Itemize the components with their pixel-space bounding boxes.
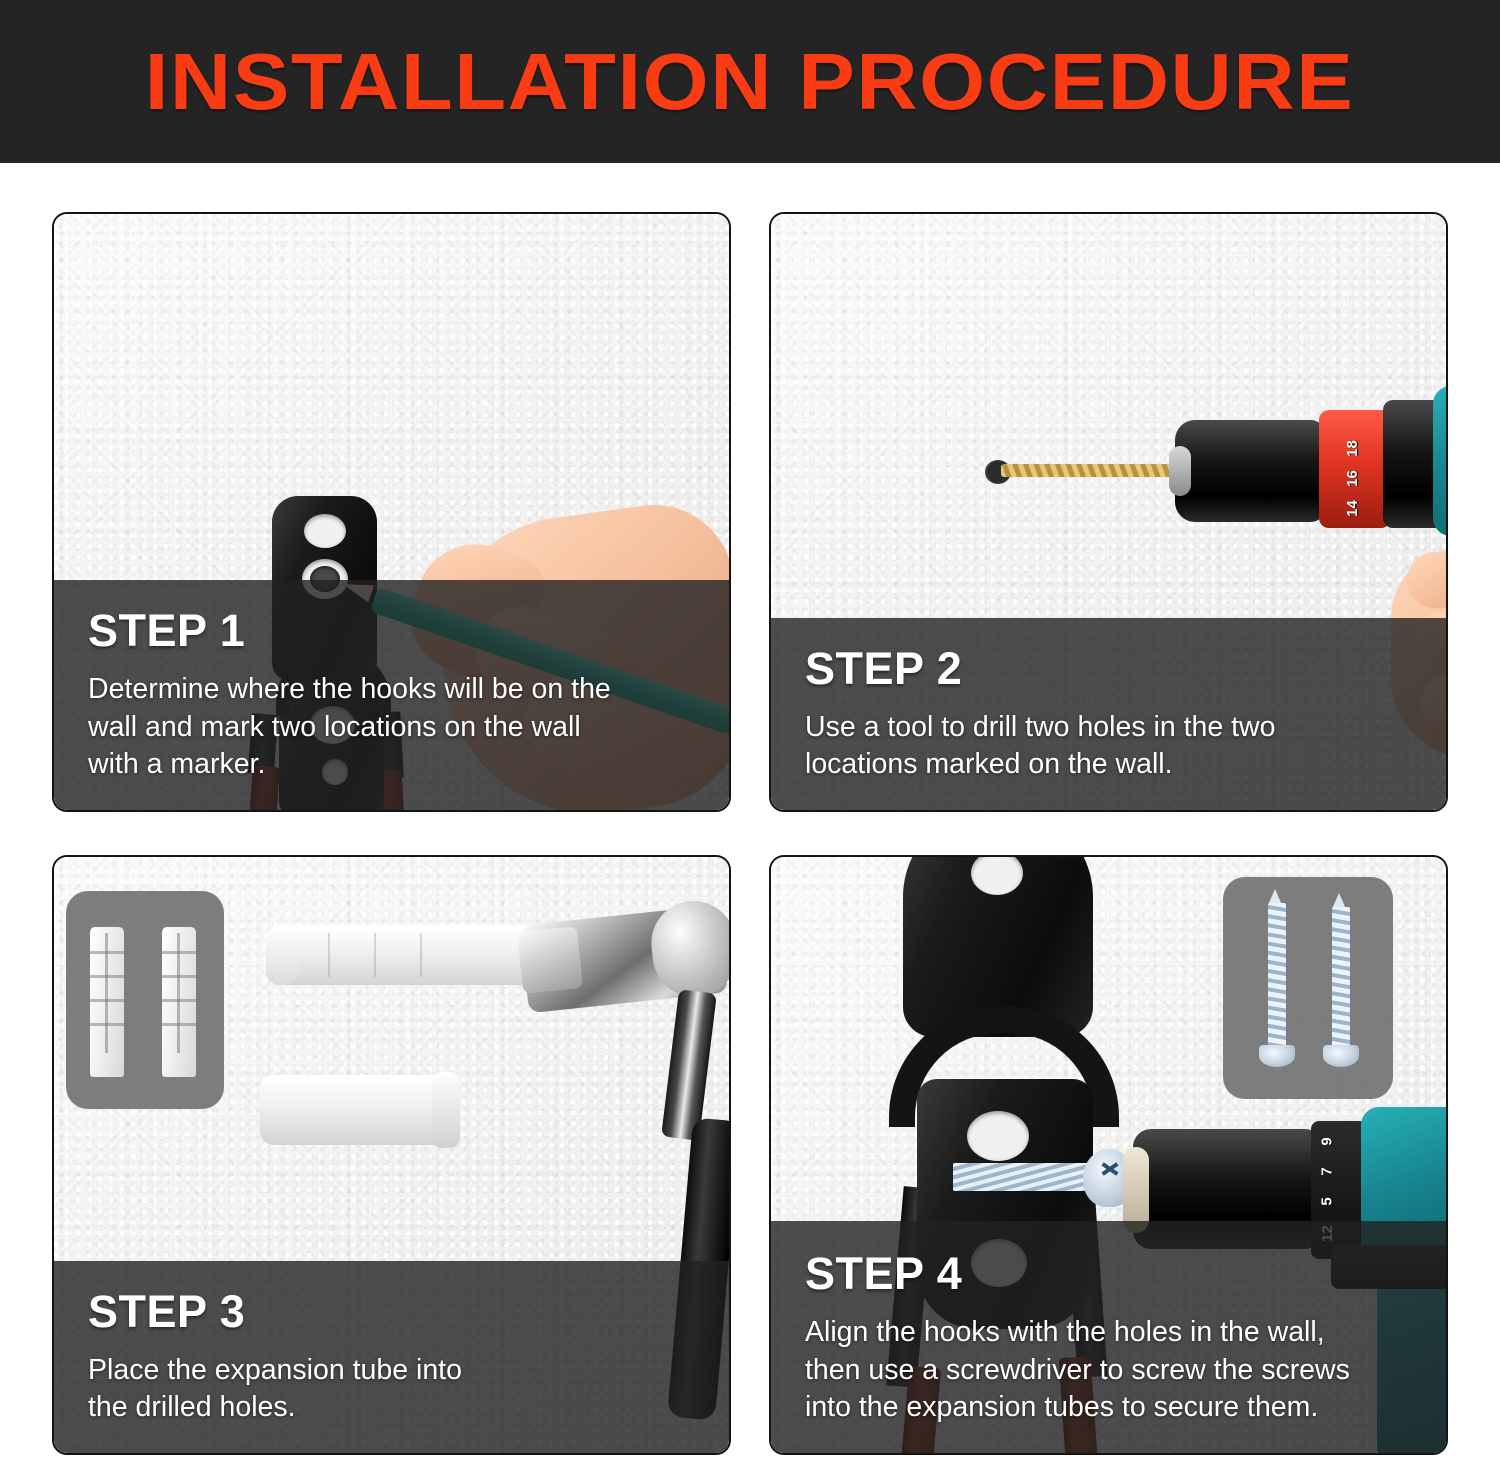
step-4-text: Align the hooks with the holes in the wa…: [805, 1314, 1412, 1427]
expansion-tube: [260, 1075, 456, 1145]
step-3-label: STEP 3: [88, 1289, 695, 1334]
step-3-text: Place the expansion tube into the drille…: [88, 1352, 695, 1427]
drill-body: [1433, 386, 1448, 536]
step-4-caption: STEP 4 Align the hooks with the holes in…: [771, 1221, 1446, 1453]
step-1-text: Determine where the hooks will be on the…: [88, 671, 695, 784]
clutch-mark-5: 5: [1319, 1197, 1336, 1205]
step-card-2[interactable]: 18 16 14 STEP 2 Use a tool to drill two …: [769, 212, 1448, 812]
header-bar: INSTALLATION PROCEDURE: [0, 0, 1500, 163]
step-2-caption: STEP 2 Use a tool to drill two holes in …: [771, 618, 1446, 810]
step-2-text: Use a tool to drill two holes in the two…: [805, 709, 1412, 784]
step-card-4[interactable]: 9 7 5 12: [769, 855, 1448, 1455]
clutch-mark-14: 14: [1344, 500, 1361, 517]
step-1-caption: STEP 1 Determine where the hooks will be…: [54, 580, 729, 810]
drill-chuck: [1175, 420, 1325, 522]
wall-anchor: [162, 927, 196, 1077]
step-card-3[interactable]: STEP 3 Place the expansion tube into the…: [52, 855, 731, 1455]
steps-grid: STEP 1 Determine where the hooks will be…: [52, 212, 1448, 1455]
drill-bit: [1001, 464, 1186, 477]
clutch-mark-16: 16: [1344, 470, 1361, 487]
step-1-label: STEP 1: [88, 608, 695, 653]
step-card-1[interactable]: STEP 1 Determine where the hooks will be…: [52, 212, 731, 812]
clutch-mark-18: 18: [1344, 440, 1361, 457]
step-2-label: STEP 2: [805, 646, 1412, 691]
step-4-label: STEP 4: [805, 1251, 1412, 1296]
step-3-caption: STEP 3 Place the expansion tube into the…: [54, 1261, 729, 1453]
wall-anchor: [90, 927, 124, 1077]
zinc-screw: [953, 1163, 1095, 1191]
clutch-mark-7: 7: [1319, 1167, 1336, 1175]
page-title: INSTALLATION PROCEDURE: [145, 36, 1355, 128]
clutch-mark-9: 9: [1319, 1137, 1336, 1145]
